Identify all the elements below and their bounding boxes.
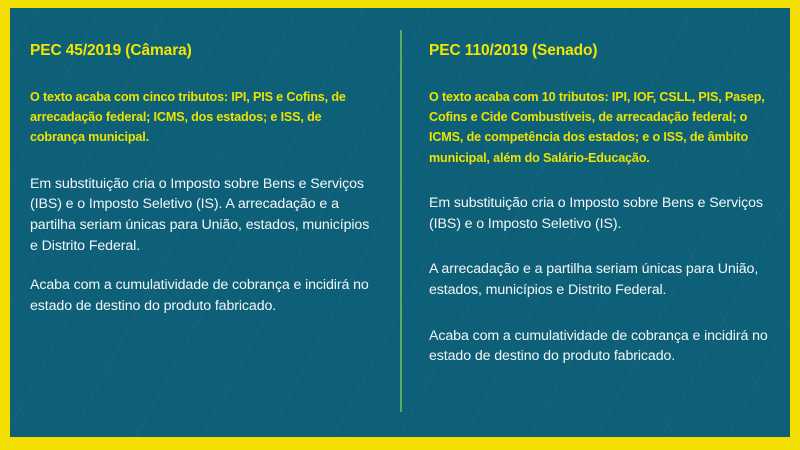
column-paragraph-pec-110-3: Acaba com a cumulatividade de cobrança e… <box>429 326 772 367</box>
column-paragraph-pec-45-2: Acaba com a cumulatividade de cobrança e… <box>30 275 374 316</box>
comparison-columns: PEC 45/2019 (Câmara) O texto acaba com c… <box>10 8 790 437</box>
column-pec-110-senado: PEC 110/2019 (Senado) O texto acaba com … <box>400 8 790 437</box>
content-panel: PEC 45/2019 (Câmara) O texto acaba com c… <box>10 8 790 437</box>
column-paragraph-pec-110-1: Em substituição cria o Imposto sobre Ben… <box>429 193 772 234</box>
column-title-pec-45: PEC 45/2019 (Câmara) <box>30 42 374 61</box>
column-title-pec-110: PEC 110/2019 (Senado) <box>429 42 772 61</box>
column-paragraph-pec-110-2: A arrecadação e a partilha seriam únicas… <box>429 259 772 300</box>
column-pec-45-camara: PEC 45/2019 (Câmara) O texto acaba com c… <box>10 8 400 437</box>
column-highlight-pec-45: O texto acaba com cinco tributos: IPI, P… <box>30 87 374 148</box>
column-highlight-pec-110: O texto acaba com 10 tributos: IPI, IOF,… <box>429 87 772 169</box>
slide-root: PEC 45/2019 (Câmara) O texto acaba com c… <box>0 0 800 450</box>
column-paragraph-pec-45-1: Em substituição cria o Imposto sobre Ben… <box>30 174 374 256</box>
